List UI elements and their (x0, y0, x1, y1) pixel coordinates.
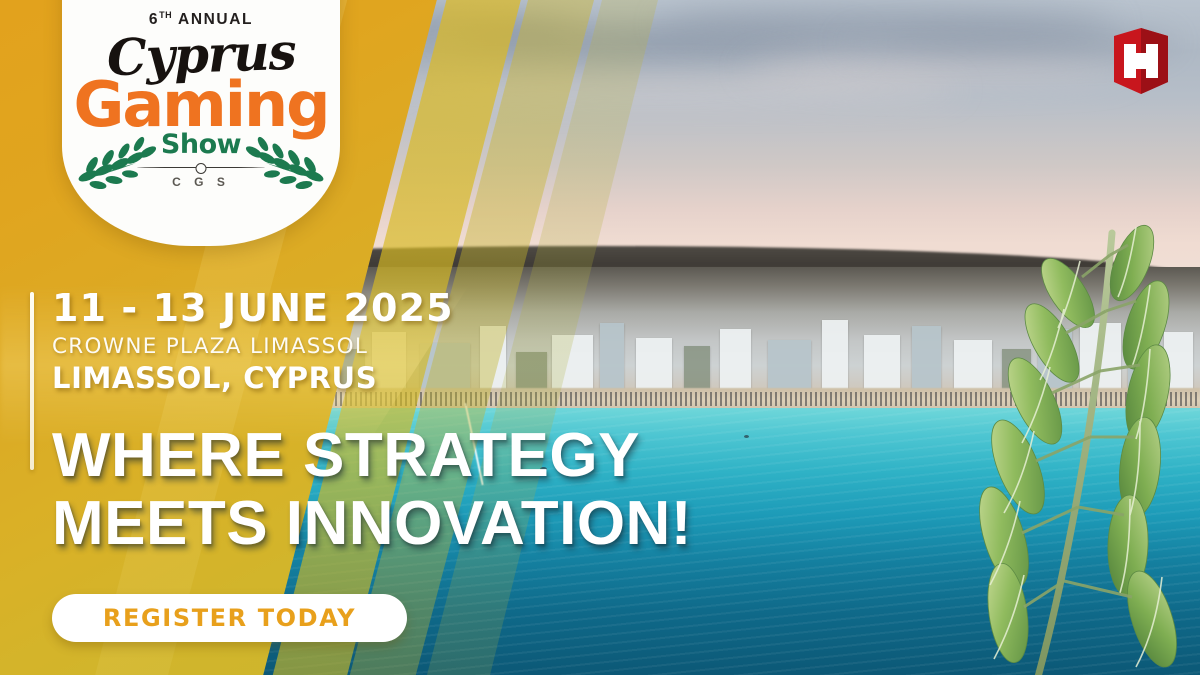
building (822, 320, 848, 394)
logo-word-show: Show (161, 129, 241, 160)
event-venue: CROWNE PLAZA LIMASSOL (52, 334, 612, 359)
event-city: LIMASSOL, CYPRUS (52, 361, 612, 395)
register-today-label: REGISTER TODAY (103, 604, 356, 632)
event-info-block: 11 - 13 JUNE 2025 CROWNE PLAZA LIMASSOL … (52, 286, 612, 395)
annual-ordinal-suffix: TH (159, 10, 172, 20)
logo-show-row: Show (62, 129, 340, 160)
building (864, 335, 900, 395)
building (720, 329, 751, 394)
event-promo-banner: 6TH ANNUAL Cyprus Gaming Show C G S (0, 0, 1200, 675)
olive-branch-icon (960, 215, 1200, 675)
headline-line-1: WHERE STRATEGY (52, 424, 932, 488)
headline-line-2: MEETS INNOVATION! (52, 492, 932, 556)
register-today-button[interactable]: REGISTER TODAY (52, 594, 407, 642)
headline-block: WHERE STRATEGY MEETS INNOVATION! (52, 424, 932, 556)
event-logo-shield: 6TH ANNUAL Cyprus Gaming Show C G S (62, 0, 340, 246)
building (768, 340, 811, 394)
red-cube-logo-icon[interactable] (1110, 26, 1172, 96)
cloud-shape (744, 57, 1128, 83)
logo-divider-rule (137, 162, 265, 172)
logo-acronym: C G S (172, 175, 230, 189)
building (636, 338, 672, 395)
vertical-accent-line (30, 292, 34, 470)
vegetation (684, 346, 710, 394)
event-dates: 11 - 13 JUNE 2025 (52, 286, 612, 330)
building (912, 326, 941, 394)
logo-word-cyprus: Cyprus (106, 28, 296, 83)
